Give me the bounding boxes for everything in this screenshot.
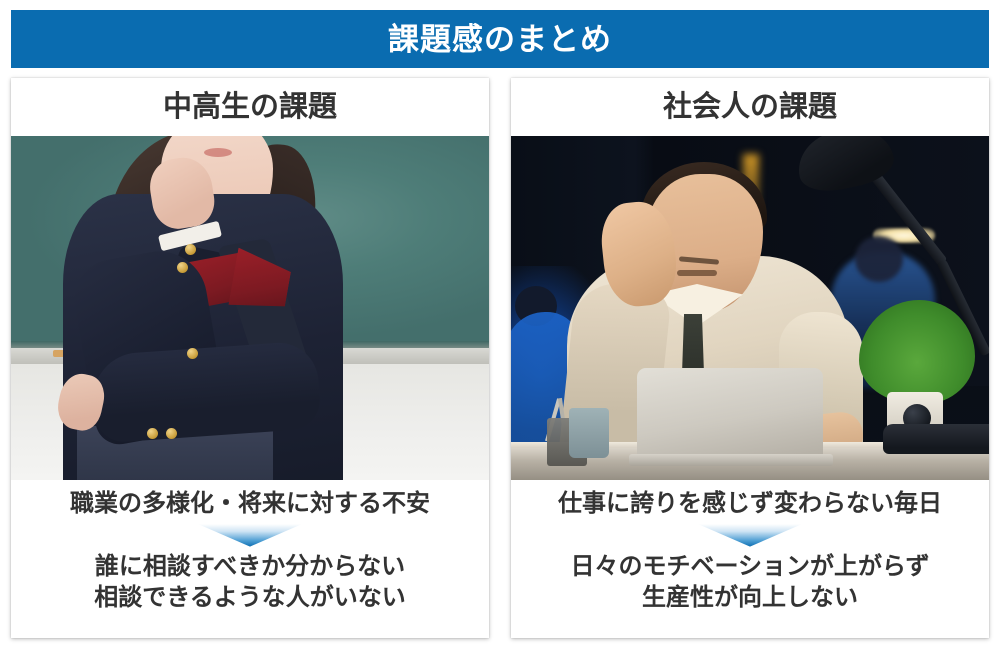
laptop-screen: [637, 368, 823, 460]
panel-title-workers: 社会人の課題: [511, 78, 989, 136]
problem-text-students: 職業の多様化・将来に対する不安: [11, 490, 489, 518]
student-arm-lower: [90, 340, 322, 444]
blazer-button: [147, 428, 158, 439]
blazer-button: [187, 348, 198, 359]
desk-lamp-base: [883, 424, 989, 454]
problem-text-workers: 仕事に誇りを感じず変わらない毎日: [511, 490, 989, 518]
blazer-button: [185, 244, 196, 255]
down-arrow-icon: [197, 524, 303, 547]
blazer-button: [177, 262, 188, 273]
slide-root: 課題感のまとめ 中高生の課題: [0, 0, 1000, 650]
header-bar: 課題感のまとめ: [11, 10, 989, 68]
background-colleague-head: [855, 236, 903, 282]
worker-closed-eye: [677, 270, 717, 276]
panel-workers: 社会人の課題: [511, 78, 989, 638]
panel-students: 中高生の課題: [11, 78, 489, 638]
consequence-line-1-students: 誰に相談すべきか分からない: [11, 551, 489, 583]
blazer-button: [166, 428, 177, 439]
consequence-line-1-workers: 日々のモチベーションが上がらず: [511, 551, 989, 583]
caption-students: 職業の多様化・将来に対する不安 誰に相談すべきか分からない 相談できるような人が…: [11, 480, 489, 638]
student-lips: [204, 148, 232, 157]
consequence-line-2-workers: 生産性が向上しない: [511, 582, 989, 614]
panel-title-students: 中高生の課題: [11, 78, 489, 136]
coffee-cup: [569, 408, 609, 458]
caption-workers: 仕事に誇りを感じず変わらない毎日 日々のモチベーションが上がらず 生産性が向上し…: [511, 480, 989, 638]
consequence-line-2-students: 相談できるような人がいない: [11, 582, 489, 614]
student-thinking-photo: [11, 136, 489, 480]
down-arrow-icon: [697, 524, 803, 547]
tired-office-worker-photo: [511, 136, 989, 480]
laptop-base: [629, 454, 833, 466]
page-title: 課題感のまとめ: [388, 24, 612, 55]
